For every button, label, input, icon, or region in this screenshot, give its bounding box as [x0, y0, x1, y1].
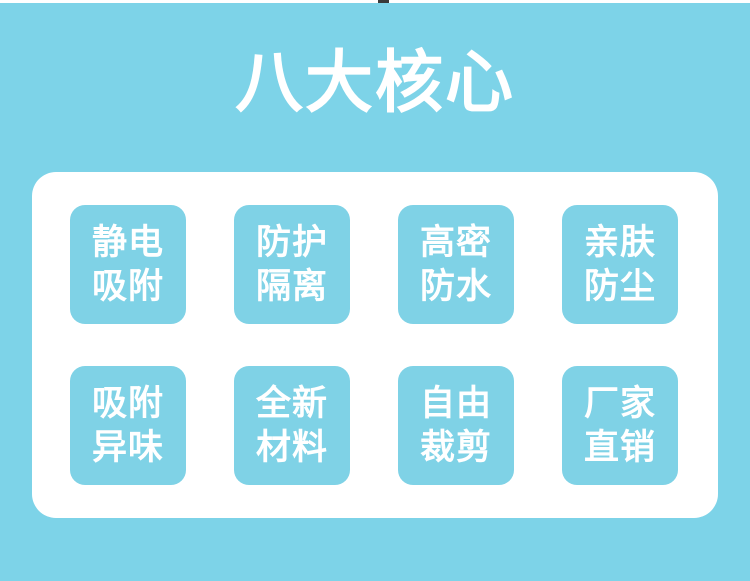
feature-tile-3-line2: 防水: [420, 265, 492, 309]
feature-tile-7-line1: 自由: [420, 382, 492, 426]
feature-tile-2-line1: 防护: [256, 221, 328, 265]
top-seam-divider: [0, 0, 750, 3]
feature-tile-5[interactable]: 吸附 异味: [70, 366, 186, 485]
features-grid: 静电 吸附 防护 隔离 高密 防水 亲肤 防尘 吸附 异味 全新 材料: [70, 205, 680, 485]
top-edge-artifact: [378, 0, 389, 3]
features-card: 静电 吸附 防护 隔离 高密 防水 亲肤 防尘 吸附 异味 全新 材料: [32, 172, 718, 518]
feature-tile-8-line1: 厂家: [584, 382, 656, 426]
feature-tile-2-line2: 隔离: [256, 265, 328, 309]
feature-tile-5-line2: 异味: [92, 426, 164, 470]
page-title: 八大核心: [0, 44, 750, 124]
feature-tile-4-line1: 亲肤: [584, 221, 656, 265]
feature-tile-6-line1: 全新: [256, 382, 328, 426]
feature-tile-4[interactable]: 亲肤 防尘: [562, 205, 678, 324]
feature-tile-3-line1: 高密: [420, 221, 492, 265]
feature-tile-4-line2: 防尘: [584, 265, 656, 309]
feature-tile-1-line1: 静电: [92, 221, 164, 265]
feature-tile-6-line2: 材料: [256, 426, 328, 470]
feature-tile-8[interactable]: 厂家 直销: [562, 366, 678, 485]
feature-tile-8-line2: 直销: [584, 426, 656, 470]
feature-tile-1-line2: 吸附: [92, 265, 164, 309]
feature-tile-3[interactable]: 高密 防水: [398, 205, 514, 324]
feature-tile-7-line2: 裁剪: [420, 426, 492, 470]
feature-tile-2[interactable]: 防护 隔离: [234, 205, 350, 324]
promo-poster: 八大核心 静电 吸附 防护 隔离 高密 防水 亲肤 防尘 吸附 异味: [0, 0, 750, 581]
feature-tile-5-line1: 吸附: [92, 382, 164, 426]
feature-tile-1[interactable]: 静电 吸附: [70, 205, 186, 324]
feature-tile-7[interactable]: 自由 裁剪: [398, 366, 514, 485]
feature-tile-6[interactable]: 全新 材料: [234, 366, 350, 485]
